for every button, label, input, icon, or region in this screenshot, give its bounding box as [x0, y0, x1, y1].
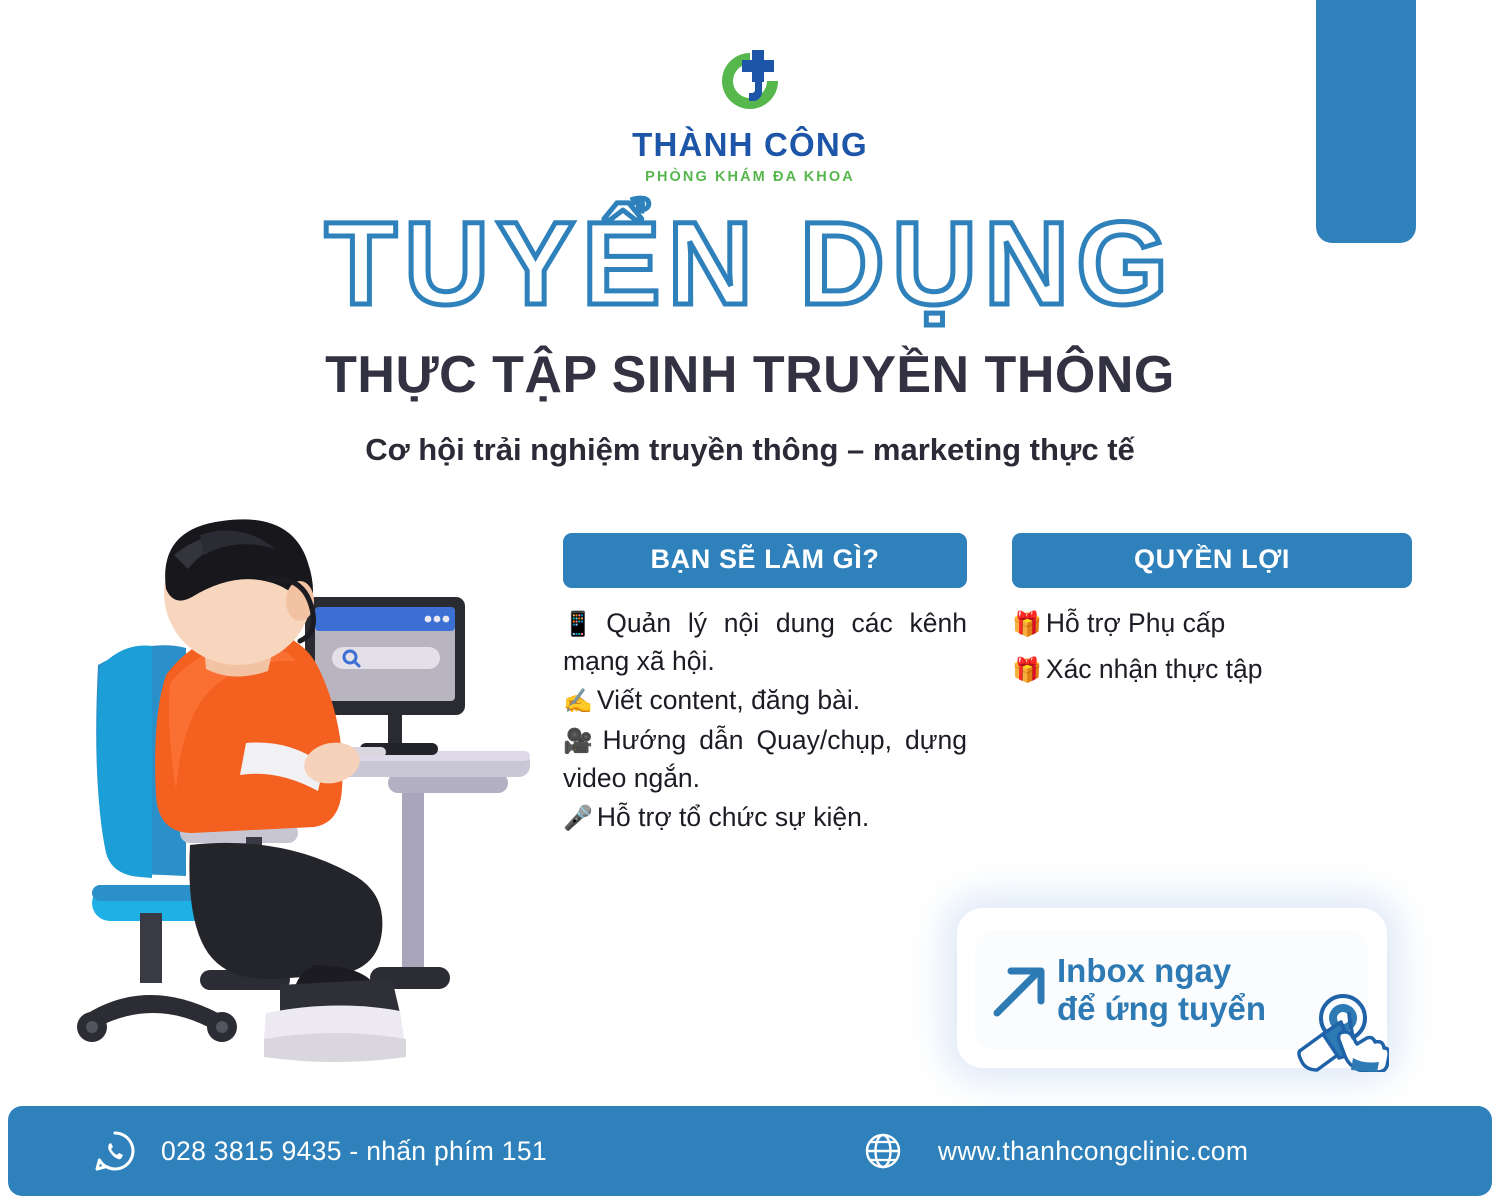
clinic-cross-c-logo-icon	[711, 38, 789, 122]
brand-tagline: PHÒNG KHÁM ĐA KHOA	[645, 169, 855, 185]
writing-hand-icon: ✍️	[563, 687, 593, 715]
list-item: 📱Quản lý nội dung các kênh mạng xã hội.	[563, 605, 967, 680]
list-item: ✍️Viết content, đăng bài.	[563, 682, 967, 720]
list-item-text: Hướng dẫn Quay/chụp, dựng video ngắn.	[563, 725, 967, 793]
footer-website-text: www.thanhcongclinic.com	[938, 1136, 1248, 1167]
footer-phone-text: 028 3815 9435 - nhấn phím 151	[161, 1136, 547, 1167]
gift-icon: 🎁	[1012, 656, 1042, 684]
cta-text: Inbox ngay để ứng tuyển	[1057, 952, 1266, 1029]
microphone-icon: 🎤	[563, 804, 593, 832]
megaphone-click-hand-icon	[1297, 992, 1389, 1072]
list-item: 🎁Xác nhận thực tập	[1012, 651, 1412, 689]
page-title: TUYỂN DỤNG	[325, 205, 1175, 323]
person-at-desk-illustration	[70, 515, 590, 1095]
arrow-up-right-icon	[989, 959, 1051, 1021]
footer-bar: 028 3815 9435 - nhấn phím 151 www.thanhc…	[8, 1106, 1492, 1196]
list-item-text: Quản lý nội dung các kênh mạng xã hội.	[563, 608, 967, 676]
movie-camera-icon: 🎥	[563, 727, 599, 755]
page-subtitle: THỰC TẬP SINH TRUYỀN THÔNG	[0, 345, 1500, 405]
list-item: 🎤Hỗ trợ tổ chức sự kiện.	[563, 799, 967, 837]
globe-icon	[862, 1130, 904, 1172]
list-item-text: Xác nhận thực tập	[1046, 654, 1263, 684]
list-item: 🎁Hỗ trợ Phụ cấp	[1012, 605, 1412, 643]
duties-title: BẠN SẼ LÀM GÌ?	[563, 533, 967, 588]
benefits-list: 🎁Hỗ trợ Phụ cấp 🎁Xác nhận thực tập	[1012, 605, 1412, 688]
whatsapp-phone-icon	[94, 1130, 136, 1172]
cta-line-1: Inbox ngay	[1057, 952, 1266, 990]
list-item-text: Viết content, đăng bài.	[597, 685, 860, 715]
page-tagline: Cơ hội trải nghiệm truyền thông – market…	[0, 432, 1500, 468]
brand-name: THÀNH CÔNG	[632, 126, 868, 164]
brand-logo: THÀNH CÔNG PHÒNG KHÁM ĐA KHOA	[0, 38, 1500, 185]
list-item: 🎥Hướng dẫn Quay/chụp, dựng video ngắn.	[563, 722, 967, 797]
footer-phone[interactable]: 028 3815 9435 - nhấn phím 151	[94, 1130, 547, 1172]
list-item-text: Hỗ trợ Phụ cấp	[1046, 608, 1225, 638]
duties-column: BẠN SẼ LÀM GÌ? 📱Quản lý nội dung các kên…	[563, 533, 967, 839]
mobile-phone-icon: 📱	[563, 610, 602, 638]
gift-icon: 🎁	[1012, 610, 1042, 638]
benefits-title: QUYỀN LỢI	[1012, 533, 1412, 588]
benefits-column: QUYỀN LỢI 🎁Hỗ trợ Phụ cấp 🎁Xác nhận thực…	[1012, 533, 1412, 696]
footer-website[interactable]: www.thanhcongclinic.com	[862, 1130, 1248, 1172]
cta-line-2: để ứng tuyển	[1057, 990, 1266, 1028]
headline-container: TUYỂN DỤNG	[0, 205, 1500, 323]
duties-list: 📱Quản lý nội dung các kênh mạng xã hội. …	[563, 605, 967, 837]
list-item-text: Hỗ trợ tổ chức sự kiện.	[597, 802, 869, 832]
recruitment-poster: THÀNH CÔNG PHÒNG KHÁM ĐA KHOA TUYỂN DỤNG…	[0, 0, 1500, 1200]
